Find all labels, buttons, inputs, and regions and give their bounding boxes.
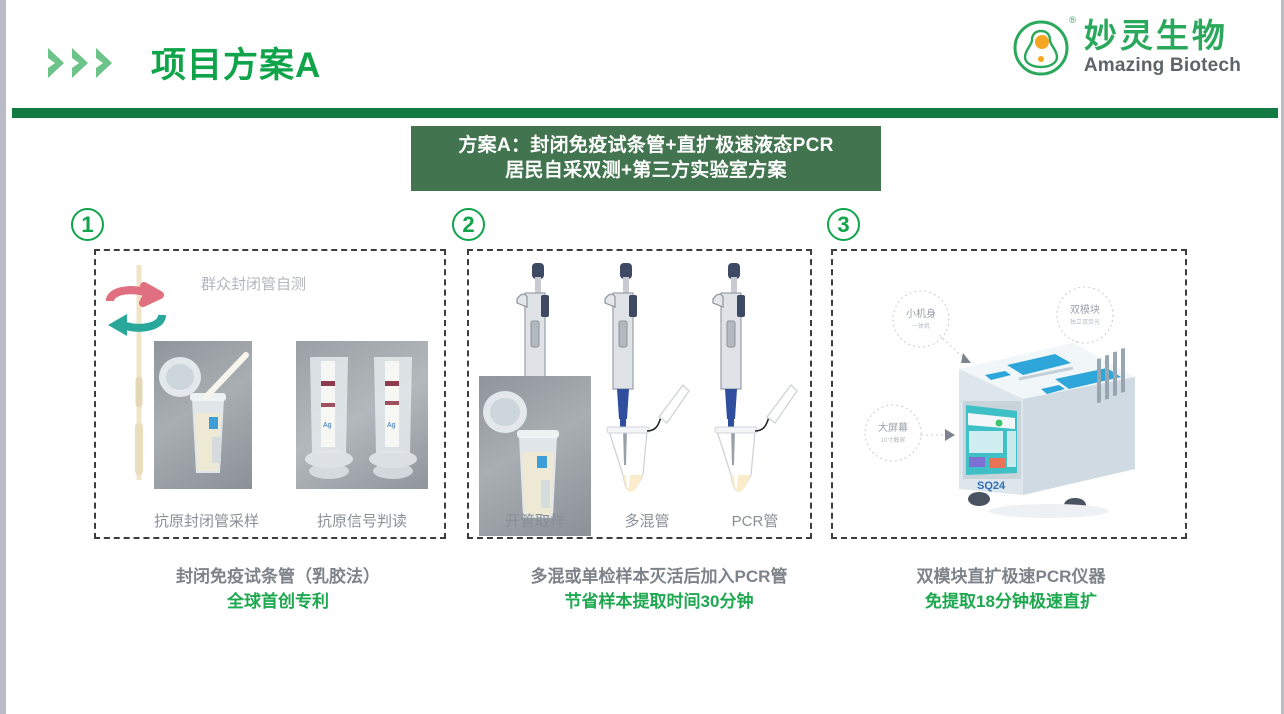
step-1-caption-1: 抗原封闭管采样 — [154, 510, 252, 531]
footer-labels: 封闭免疫试条管（乳胶法） 全球首创专利 多混或单检样本灭活后加入PCR管 节省样… — [6, 565, 1281, 635]
triple-chevron-right-icon — [46, 46, 116, 80]
brand-name-cn: 妙灵生物 — [1084, 19, 1241, 52]
step-2-panel: 开管取样 多混管 — [467, 249, 812, 539]
footer-3-highlight: 免提取18分钟极速直扩 — [836, 590, 1186, 615]
flask-circle-logo-icon: ® — [1012, 16, 1074, 78]
header-divider-bar — [12, 108, 1278, 118]
step-2-caption-3: PCR管 — [707, 510, 803, 531]
footer-2-title: 多混或单检样本灭活后加入PCR管 — [449, 565, 869, 590]
footer-1-title: 封闭免疫试条管（乳胶法） — [68, 565, 488, 590]
footer-block-2: 多混或单检样本灭活后加入PCR管 节省样本提取时间30分钟 — [449, 565, 869, 614]
svg-text:Ag: Ag — [387, 422, 396, 429]
callout-3-title: 大屏幕 — [878, 421, 908, 434]
device-model-label: SQ24 — [977, 480, 1006, 492]
banner-line-1: 方案A：封闭免疫试条管+直扩极速液态PCR — [458, 134, 833, 159]
callout-1-title: 小机身 — [906, 307, 936, 320]
chevron-right-icon — [70, 46, 92, 80]
pipette-into-pcr-tube-icon — [707, 259, 803, 514]
callout-3-sub: 10寸触屏 — [881, 436, 906, 444]
footer-block-1: 封闭免疫试条管（乳胶法） 全球首创专利 — [68, 565, 488, 614]
slide-header: 项目方案A ® 妙灵生物 Amazing Biotech — [6, 0, 1281, 108]
footer-block-3: 双模块直扩极速PCR仪器 免提取18分钟极速直扩 — [836, 565, 1186, 614]
step-3-panel: 小机身 一体机 双模块 独立双荧光 大屏幕 10寸触屏 — [831, 249, 1187, 539]
step-2-caption-2: 多混管 — [599, 510, 695, 531]
step-1-note: 群众封闭管自测 — [201, 273, 306, 294]
footer-2-highlight: 节省样本提取时间30分钟 — [449, 590, 869, 615]
banner-line-2: 居民自采双测+第三方实验室方案 — [505, 159, 787, 184]
brand-name-block: 妙灵生物 Amazing Biotech — [1084, 19, 1241, 75]
chevron-right-icon — [46, 46, 68, 80]
photo-antigen-signal-reading: Ag Ag — [296, 341, 428, 489]
brand-logo: ® 妙灵生物 Amazing Biotech — [1012, 16, 1241, 78]
callout-1-sub: 一体机 — [912, 322, 930, 330]
callout-2-title: 双模块 — [1070, 304, 1100, 316]
step-2-number-badge: 2 — [452, 208, 485, 241]
page-title: 项目方案A — [151, 37, 321, 88]
step-2-caption-1: 开管取样 — [479, 510, 591, 531]
slide-canvas: 项目方案A ® 妙灵生物 Amazing Biotech 方案A：封闭免疫试条管… — [0, 0, 1284, 714]
brand-name-en: Amazing Biotech — [1084, 56, 1241, 75]
scheme-banner: 方案A：封闭免疫试条管+直扩极速液态PCR 居民自采双测+第三方实验室方案 — [411, 126, 881, 191]
footer-1-highlight: 全球首创专利 — [68, 590, 488, 615]
svg-text:Ag: Ag — [323, 422, 332, 429]
pipette-into-mixing-tube-icon — [599, 259, 695, 514]
chevron-right-icon — [94, 46, 116, 80]
footer-3-title: 双模块直扩极速PCR仪器 — [836, 565, 1186, 590]
rotation-arrows-icon — [104, 281, 168, 339]
photo-closed-tube-sampling — [154, 341, 252, 489]
step-1-panel: 群众封闭管自测 抗原封闭管采样 — [94, 249, 446, 539]
step-1-number-badge: 1 — [71, 208, 104, 241]
callout-2-sub: 独立双荧光 — [1070, 318, 1100, 326]
step-1-caption-2: 抗原信号判读 — [296, 510, 428, 531]
step-3-number-badge: 3 — [827, 208, 860, 241]
pcr-instrument-illustration: 小机身 一体机 双模块 独立双荧光 大屏幕 10寸触屏 — [859, 273, 1159, 518]
registered-trademark-mark: ® — [1069, 15, 1076, 25]
